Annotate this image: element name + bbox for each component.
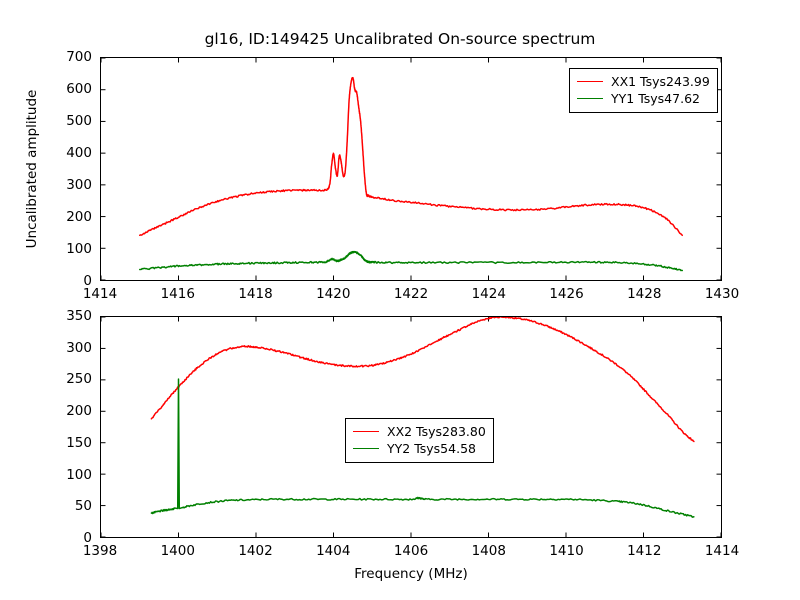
legend-entry-label: XX2 Tsys283.80 xyxy=(387,423,486,440)
top-x-tick-label: 1416 xyxy=(161,286,195,302)
bottom-x-tick-label: 1402 xyxy=(238,543,272,559)
top-y-tick-label: 600 xyxy=(34,81,92,97)
bottom-legend: XX2 Tsys283.80YY2 Tsys54.58 xyxy=(345,418,494,463)
top-x-tick-label: 1422 xyxy=(394,286,428,302)
top-x-tick-label: 1424 xyxy=(472,286,506,302)
legend-line-swatch-icon xyxy=(577,98,603,99)
top-x-tick-label: 1428 xyxy=(627,286,661,302)
top-legend: XX1 Tsys243.99YY1 Tsys47.62 xyxy=(569,68,718,113)
trace-yy1 xyxy=(140,252,683,271)
bottom-x-tick-label: 1404 xyxy=(316,543,350,559)
bottom-x-tick-label: 1410 xyxy=(549,543,583,559)
figure-canvas: gl16, ID:149425 Uncalibrated On-source s… xyxy=(0,0,800,600)
bottom-y-tick-label: 150 xyxy=(34,435,92,451)
legend-line-swatch-icon xyxy=(577,81,603,82)
bottom-x-tick-label: 1412 xyxy=(627,543,661,559)
legend-entry-label: YY2 Tsys54.58 xyxy=(387,440,476,457)
bottom-y-tick-label: 100 xyxy=(34,467,92,483)
top-x-tick-label: 1414 xyxy=(83,286,117,302)
bottom-legend-entry: YY2 Tsys54.58 xyxy=(353,440,486,457)
bottom-x-tick-label: 1408 xyxy=(472,543,506,559)
top-x-tick-label: 1426 xyxy=(549,286,583,302)
top-x-tick-label: 1418 xyxy=(238,286,272,302)
top-x-tick-label: 1430 xyxy=(705,286,739,302)
bottom-y-tick-label: 200 xyxy=(34,403,92,419)
bottom-y-tick-label: 350 xyxy=(34,308,92,324)
legend-line-swatch-icon xyxy=(353,431,379,432)
top-y-tick-label: 500 xyxy=(34,113,92,129)
bottom-x-tick-label: 1414 xyxy=(705,543,739,559)
page-title: gl16, ID:149425 Uncalibrated On-source s… xyxy=(0,30,800,48)
bottom-y-tick-label: 250 xyxy=(34,371,92,387)
bottom-x-tick-label: 1400 xyxy=(161,543,195,559)
x-axis-label: Frequency (MHz) xyxy=(354,566,467,582)
bottom-y-tick-label: 300 xyxy=(34,340,92,356)
top-legend-entry: XX1 Tsys243.99 xyxy=(577,73,710,90)
bottom-legend-entry: XX2 Tsys283.80 xyxy=(353,423,486,440)
top-x-tick-label: 1420 xyxy=(316,286,350,302)
top-y-tick-label: 400 xyxy=(34,145,92,161)
legend-entry-label: YY1 Tsys47.62 xyxy=(611,90,700,107)
top-y-tick-label: 200 xyxy=(34,209,92,225)
legend-line-swatch-icon xyxy=(353,448,379,449)
legend-entry-label: XX1 Tsys243.99 xyxy=(611,73,710,90)
top-legend-entry: YY1 Tsys47.62 xyxy=(577,90,710,107)
bottom-x-tick-label: 1406 xyxy=(394,543,428,559)
top-y-tick-label: 700 xyxy=(34,49,92,65)
bottom-x-tick-label: 1398 xyxy=(83,543,117,559)
top-y-tick-label: 300 xyxy=(34,177,92,193)
bottom-y-tick-label: 50 xyxy=(34,498,92,514)
top-y-tick-label: 100 xyxy=(34,241,92,257)
